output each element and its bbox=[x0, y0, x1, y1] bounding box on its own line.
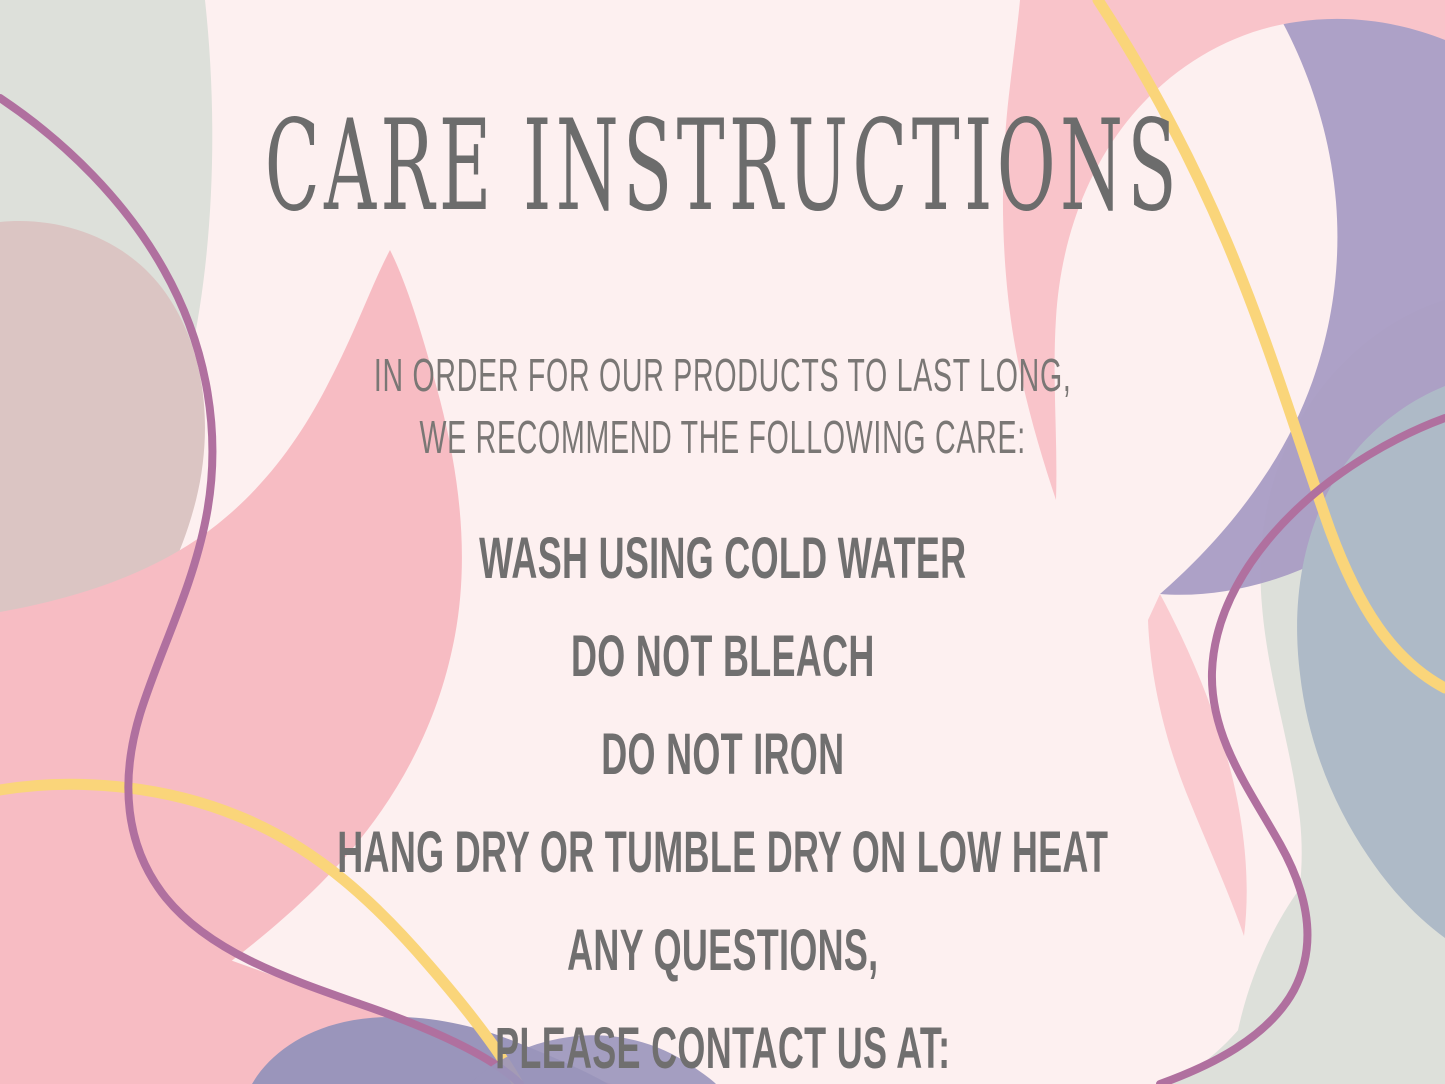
instruction-dry: HANG DRY OR TUMBLE DRY ON LOW HEAT bbox=[337, 824, 1108, 882]
card-content: CARE INSTRUCTIONS IN ORDER FOR OUR PRODU… bbox=[0, 0, 1445, 1084]
page-title: CARE INSTRUCTIONS bbox=[264, 104, 1180, 229]
instruction-wash: WASH USING COLD WATER bbox=[337, 530, 1108, 588]
intro-text: IN ORDER FOR OUR PRODUCTS TO LAST LONG, … bbox=[374, 344, 1072, 468]
intro-line-1: IN ORDER FOR OUR PRODUCTS TO LAST LONG, bbox=[374, 344, 1072, 406]
instruction-questions: ANY QUESTIONS, bbox=[337, 922, 1108, 980]
instruction-bleach: DO NOT BLEACH bbox=[337, 628, 1108, 686]
instructions-list: WASH USING COLD WATER DO NOT BLEACH DO N… bbox=[337, 530, 1108, 1084]
intro-line-2: WE RECOMMEND THE FOLLOWING CARE: bbox=[374, 406, 1072, 468]
instruction-contact-prompt: PLEASE CONTACT US AT: bbox=[337, 1020, 1108, 1078]
instruction-iron: DO NOT IRON bbox=[337, 726, 1108, 784]
care-instructions-card: CARE INSTRUCTIONS IN ORDER FOR OUR PRODU… bbox=[0, 0, 1445, 1084]
